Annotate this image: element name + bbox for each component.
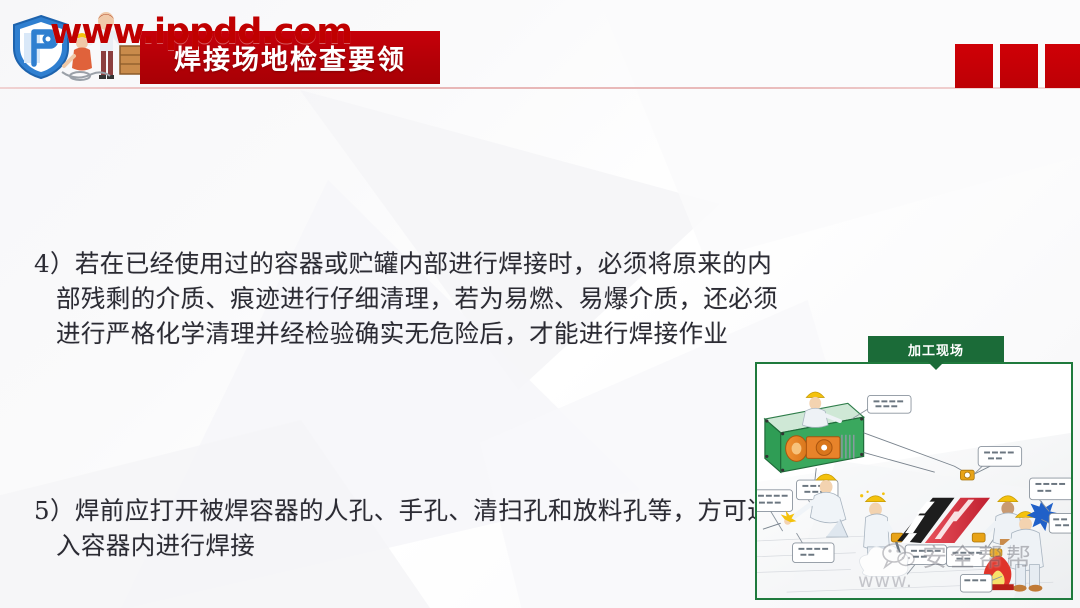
paragraph-text-5: 焊前应打开被焊容器的人孔、手孔、清扫孔和放料孔等，方可进入容器内进行焊接 [56,496,772,560]
content-paragraph-4: 4）若在已经使用过的容器或贮罐内部进行焊接时，必须将原来的内部残剩的介质、痕迹进… [34,176,794,421]
paragraph-number-5: 5） [34,496,75,525]
figure-caption-label: 加工现场 [908,340,964,359]
paragraph-text-4: 若在已经使用过的容器或贮罐内部进行焊接时，必须将原来的内部残剩的介质、痕迹进行仔… [56,249,778,348]
slide-body-text: 4）若在已经使用过的容器或贮罐内部进行焊接时，必须将原来的内部残剩的介质、痕迹进… [34,176,794,608]
caption-arrow-icon [928,362,944,370]
watermark-brand-text: 安全帮帮 [922,538,1034,574]
header-decor-squares [955,44,1080,88]
figure-caption-banner: 加工现场 [868,336,1004,362]
brand-watermark: 安全帮帮 [882,538,1034,574]
red-square-2 [1000,44,1038,88]
paragraph-number-4: 4） [34,249,75,278]
slide-header: www.ippdd.com 焊接场地检查要领 [0,0,1080,92]
content-paragraph-5: 5）焊前应打开被焊容器的人孔、手孔、清扫孔和放料孔等，方可进入容器内进行焊接 [34,423,794,608]
wechat-chat-bubble-icon [882,542,916,570]
watermark-url-text: www. [858,570,913,592]
red-square-3 [1045,44,1080,88]
header-divider-line [0,87,1080,89]
site-url-watermark: www.ippdd.com [50,12,352,52]
presentation-slide: www.ippdd.com 焊接场地检查要领 4）若在已经使用过的容器或贮罐内部… [0,0,1080,608]
red-square-1 [955,44,993,88]
